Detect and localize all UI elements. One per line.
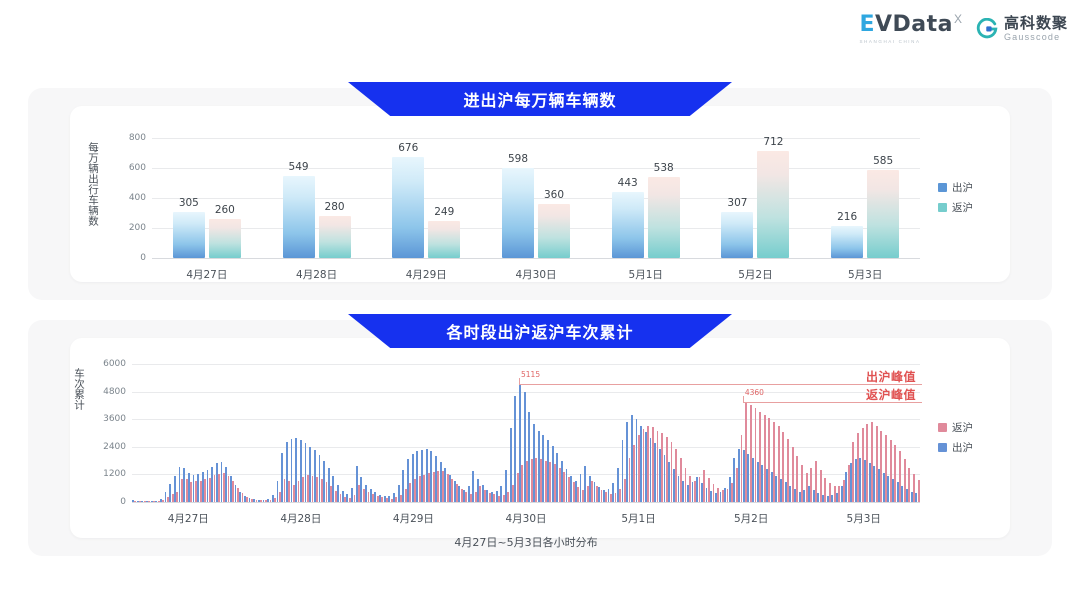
- brand-logo-bar: EVData X SHANGHAI CHINA 高科数聚 Gausscode: [859, 14, 1068, 44]
- x-axis-tick: 4月28日: [256, 511, 346, 526]
- y-axis-tick: 400: [110, 193, 146, 203]
- bar-value-label: 712: [749, 136, 797, 148]
- bar-value-label: 360: [530, 189, 578, 201]
- y-axis-tick: 4800: [88, 387, 126, 397]
- page-root: EVData X SHANGHAI CHINA 高科数聚 Gausscode 进…: [0, 0, 1080, 608]
- y-axis-tick: 2400: [88, 442, 126, 452]
- y-axis-tick: 1200: [88, 469, 126, 479]
- gridline: [132, 447, 920, 448]
- daily-vehicles-title-banner: 进出沪每万辆车辆数: [348, 82, 732, 116]
- bar-value-label: 443: [604, 177, 652, 189]
- bar-value-label: 676: [384, 142, 432, 154]
- peak-tick: [743, 396, 744, 403]
- x-axis-tick: 5月1日: [601, 267, 691, 282]
- y-axis-tick: 0: [110, 253, 146, 263]
- bar-出沪-5月3日[interactable]: [831, 226, 863, 258]
- gridline: [132, 364, 920, 365]
- gausscode-g-icon: [976, 18, 998, 40]
- bar-返沪-4月27日[interactable]: [209, 219, 241, 258]
- legend-label: 出沪: [952, 440, 973, 455]
- peak-value-label: 4360: [745, 388, 764, 397]
- hourly-trips-xcaption: 4月27日~5月3日各小时分布: [12, 534, 1040, 550]
- gausscode-name-cn: 高科数聚: [1004, 16, 1068, 31]
- legend-swatch: [938, 183, 947, 192]
- hourly-trips-plot: 0120024003600480060004月27日4月28日4月29日4月30…: [132, 364, 920, 502]
- gausscode-logo: 高科数聚 Gausscode: [976, 16, 1068, 42]
- x-axis-tick: 4月29日: [381, 267, 471, 282]
- legend-item-返沪[interactable]: 返沪: [938, 200, 973, 215]
- x-axis-tick: 4月28日: [272, 267, 362, 282]
- evdata-tagline: SHANGHAI CHINA: [859, 39, 920, 44]
- bar-出沪-4月28日[interactable]: [283, 176, 315, 258]
- y-axis-tick: 0: [88, 497, 126, 507]
- bar-value-label: 549: [275, 161, 323, 173]
- x-axis-line: [152, 258, 920, 259]
- gridline: [152, 138, 920, 139]
- bar-出沪-4月27日[interactable]: [173, 212, 205, 258]
- y-axis-tick: 3600: [88, 414, 126, 424]
- gridline: [152, 228, 920, 229]
- gausscode-name-en: Gausscode: [1004, 33, 1068, 42]
- x-axis-tick: 4月27日: [162, 267, 252, 282]
- x-axis-tick: 4月30日: [481, 511, 571, 526]
- gridline: [152, 168, 920, 169]
- bar-value-label: 598: [494, 153, 542, 165]
- peak-label-1: 返沪峰值: [866, 386, 916, 403]
- bar-value-label: 280: [311, 201, 359, 213]
- daily-vehicles-legend: 出沪返沪: [938, 180, 973, 215]
- x-axis-tick: 5月2日: [706, 511, 796, 526]
- daily-vehicles-title: 进出沪每万辆车辆数: [463, 87, 616, 111]
- hourly-trips-ylabel: 车次累计: [72, 368, 87, 498]
- legend-item-返沪[interactable]: 返沪: [938, 420, 973, 435]
- evdata-rest: VData: [875, 12, 953, 37]
- peak-reference-line: [519, 384, 922, 385]
- x-axis-tick: 4月29日: [368, 511, 458, 526]
- hourly-bar-back[interactable]: [918, 480, 920, 502]
- bar-出沪-4月30日[interactable]: [502, 168, 534, 258]
- y-axis-tick: 600: [110, 163, 146, 173]
- y-axis-tick: 200: [110, 223, 146, 233]
- legend-label: 返沪: [952, 420, 973, 435]
- hourly-trips-title: 各时段出沪返沪车次累计: [446, 319, 633, 343]
- x-axis-tick: 4月27日: [143, 511, 233, 526]
- x-axis-tick: 5月1日: [594, 511, 684, 526]
- bar-value-label: 307: [713, 197, 761, 209]
- daily-vehicles-ylabel: 每万辆出行车辆数: [86, 142, 101, 254]
- bar-返沪-4月28日[interactable]: [319, 216, 351, 258]
- bar-返沪-5月3日[interactable]: [867, 170, 899, 258]
- legend-swatch: [938, 203, 947, 212]
- y-axis-tick: 6000: [88, 359, 126, 369]
- bar-value-label: 249: [420, 206, 468, 218]
- gridline: [132, 419, 920, 420]
- bar-出沪-5月2日[interactable]: [721, 212, 753, 258]
- x-axis-tick: 4月30日: [491, 267, 581, 282]
- bar-value-label: 260: [201, 204, 249, 216]
- x-axis-tick: 5月2日: [710, 267, 800, 282]
- peak-label-0: 出沪峰值: [866, 368, 916, 385]
- legend-item-出沪[interactable]: 出沪: [938, 180, 973, 195]
- evdata-superscript: X: [954, 12, 962, 26]
- legend-swatch: [938, 443, 947, 452]
- bar-value-label: 216: [823, 211, 871, 223]
- bar-返沪-5月1日[interactable]: [648, 177, 680, 258]
- bar-返沪-4月29日[interactable]: [428, 221, 460, 258]
- hourly-trips-title-banner: 各时段出沪返沪车次累计: [348, 314, 732, 348]
- y-axis-tick: 800: [110, 133, 146, 143]
- legend-label: 返沪: [952, 200, 973, 215]
- x-axis-line: [132, 502, 920, 503]
- hourly-trips-legend: 返沪出沪: [938, 420, 973, 455]
- bar-返沪-5月2日[interactable]: [757, 151, 789, 258]
- evdata-wordmark: EVData: [859, 14, 953, 36]
- evdata-logo: EVData X SHANGHAI CHINA: [859, 14, 962, 44]
- peak-tick: [519, 378, 520, 385]
- x-axis-tick: 5月3日: [819, 511, 909, 526]
- daily-vehicles-plot: 02004006008003052604月27日5492804月28日67624…: [152, 138, 920, 258]
- x-axis-tick: 5月3日: [820, 267, 910, 282]
- bar-返沪-4月30日[interactable]: [538, 204, 570, 258]
- gridline: [132, 392, 920, 393]
- bar-出沪-5月1日[interactable]: [612, 192, 644, 258]
- evdata-e-letter: E: [859, 12, 875, 37]
- legend-item-出沪[interactable]: 出沪: [938, 440, 973, 455]
- bar-value-label: 585: [859, 155, 907, 167]
- bar-value-label: 538: [640, 162, 688, 174]
- legend-label: 出沪: [952, 180, 973, 195]
- peak-value-label: 5115: [521, 370, 540, 379]
- legend-swatch: [938, 423, 947, 432]
